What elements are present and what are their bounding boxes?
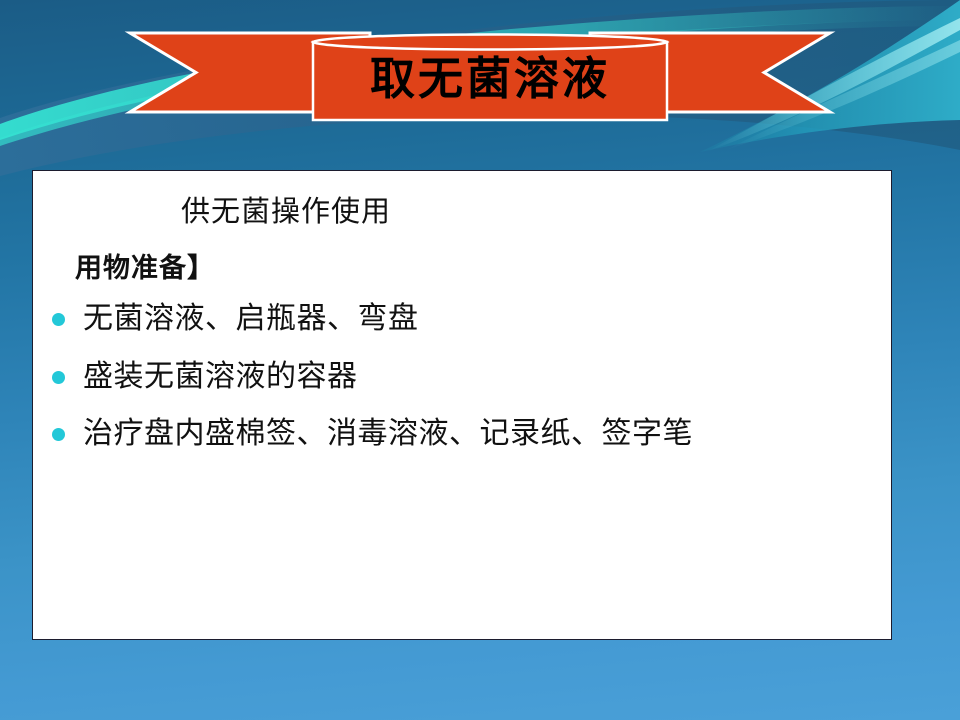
bullet-dot-icon: [52, 428, 65, 441]
list-item: 无菌溶液、启瓶器、弯盘: [47, 300, 891, 338]
list-item-label: 无菌溶液、启瓶器、弯盘: [83, 302, 419, 335]
content-box: 供无菌操作使用 用物准备】 无菌溶液、启瓶器、弯盘 盛装无菌溶液的容器 治疗盘内…: [32, 170, 892, 640]
list-item-label: 治疗盘内盛棉签、消毒溶液、记录纸、签字笔: [83, 417, 693, 450]
list-item: 盛装无菌溶液的容器: [47, 358, 891, 396]
list-item: 治疗盘内盛棉签、消毒溶液、记录纸、签字笔: [47, 415, 891, 453]
bullet-list: 无菌溶液、启瓶器、弯盘 盛装无菌溶液的容器 治疗盘内盛棉签、消毒溶液、记录纸、签…: [33, 284, 891, 453]
slide-canvas: 取无菌溶液 供无菌操作使用 用物准备】 无菌溶液、启瓶器、弯盘 盛装无菌溶液的容…: [0, 0, 960, 720]
bullet-dot-icon: [52, 371, 65, 384]
section-heading: 用物准备】: [33, 230, 891, 284]
list-item-label: 盛装无菌溶液的容器: [83, 360, 358, 393]
intro-line: 供无菌操作使用: [33, 171, 891, 230]
bullet-dot-icon: [52, 313, 65, 326]
